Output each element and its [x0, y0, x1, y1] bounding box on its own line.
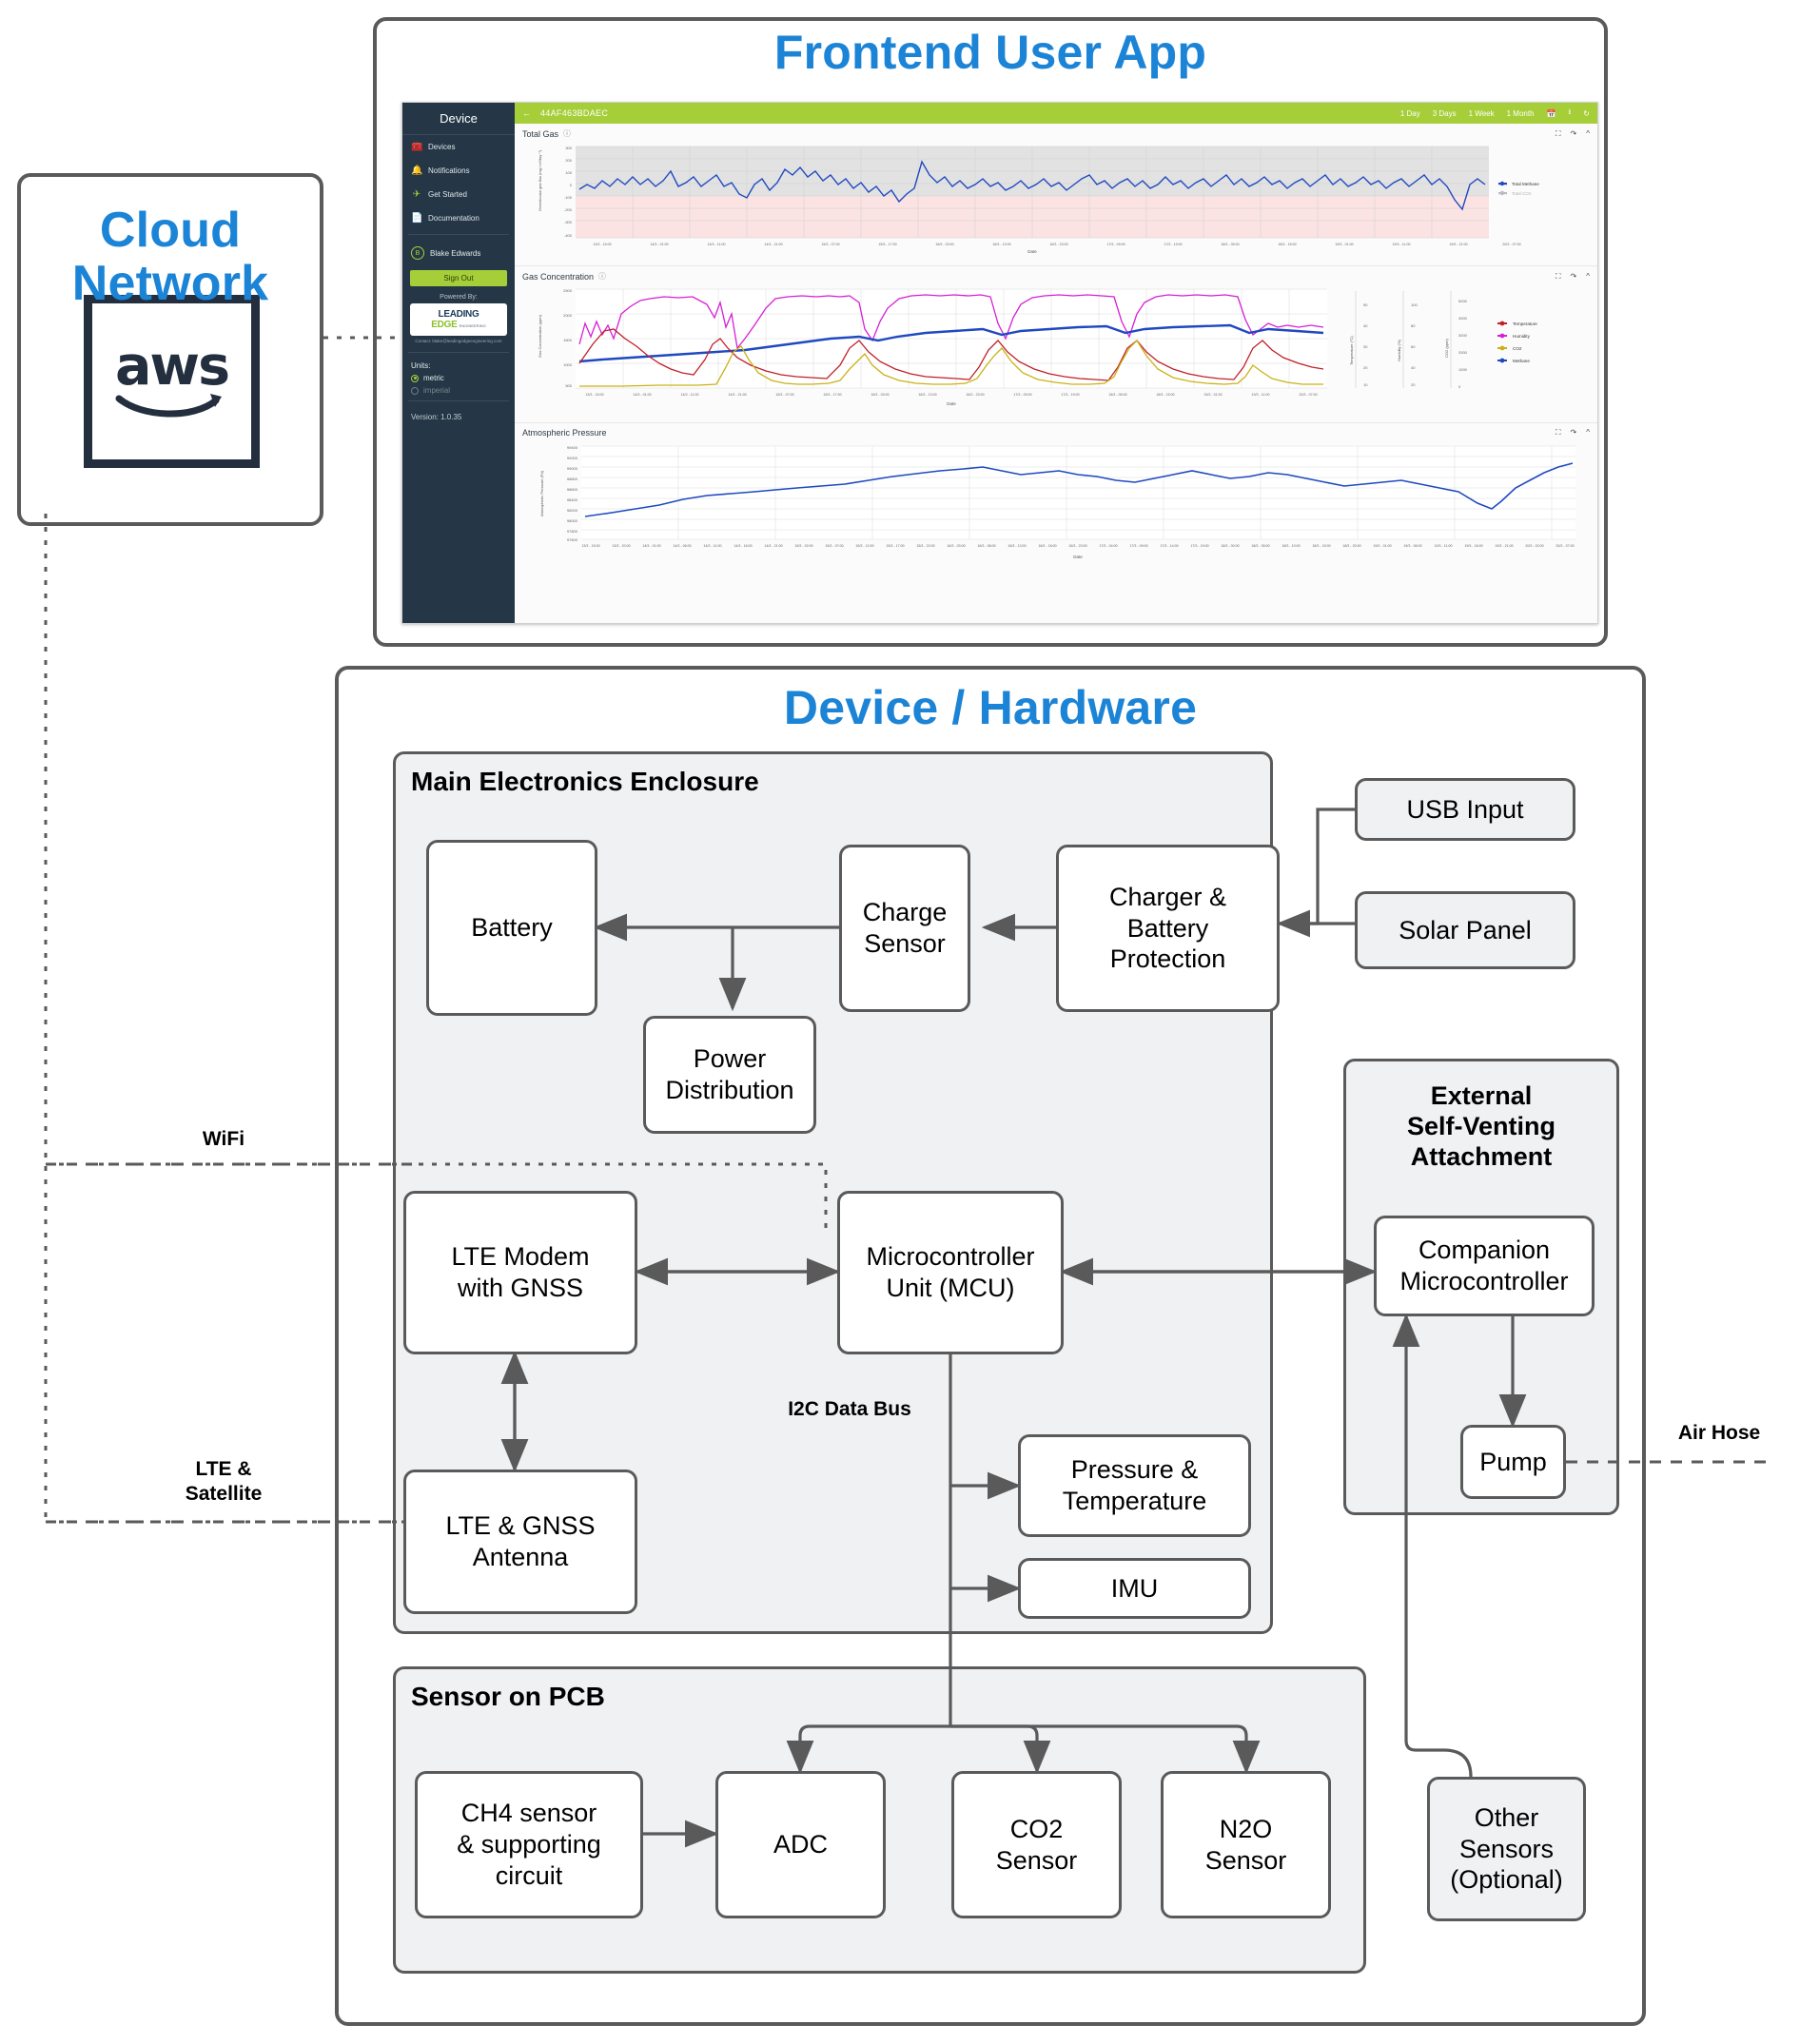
svg-text:20: 20 — [1411, 382, 1416, 387]
collapse-icon[interactable]: ^ — [1586, 129, 1590, 139]
adc-node[interactable]: ADC — [715, 1771, 886, 1918]
battery-label: Battery — [471, 912, 553, 944]
svg-text:15/3 - 17:00: 15/3 - 17:00 — [823, 393, 841, 397]
svg-text:Date: Date — [1073, 555, 1083, 559]
charge-sensor-label-2: Sensor — [863, 928, 948, 960]
power-distribution-label-2: Distribution — [665, 1075, 793, 1106]
charger-battery-protection-node[interactable]: Charger & Battery Protection — [1056, 845, 1280, 1012]
pump-label: Pump — [1479, 1447, 1547, 1478]
svg-text:97800: 97800 — [567, 529, 578, 534]
svg-text:Temperature (°C): Temperature (°C) — [1349, 336, 1354, 365]
co2-label-1: CO2 — [996, 1814, 1078, 1845]
svg-text:Total CO2: Total CO2 — [1512, 191, 1532, 196]
svg-text:19/3 - 11:00: 19/3 - 11:00 — [1393, 243, 1411, 246]
radio-icon — [411, 375, 419, 382]
companion-mcu-label-2: Microcontroller — [1399, 1266, 1568, 1297]
sidebar-item-label: Devices — [428, 143, 455, 151]
leading-edge-logo: LEADING EDGE ENGINEERING — [410, 303, 507, 336]
logo-line-1: LEADING — [439, 309, 479, 320]
n2o-label-1: N2O — [1205, 1814, 1287, 1845]
svg-text:17/3 - 04:00: 17/3 - 04:00 — [1099, 544, 1117, 548]
co2-label-2: Sensor — [996, 1845, 1078, 1877]
aws-logo: aws — [84, 295, 260, 468]
sidebar-divider-3 — [408, 400, 509, 401]
sidebar-item-devices[interactable]: 🧰 Devices — [402, 135, 515, 159]
mcu-label-1: Microcontroller — [866, 1241, 1034, 1273]
collapse-icon[interactable]: ^ — [1586, 272, 1590, 282]
solar-panel-node[interactable]: Solar Panel — [1355, 891, 1575, 969]
svg-text:20/3 - 07:00: 20/3 - 07:00 — [1299, 393, 1317, 397]
svg-text:14/3 - 11:00: 14/3 - 11:00 — [681, 393, 699, 397]
svg-text:99400: 99400 — [567, 445, 578, 450]
svg-text:19/3 - 01:00: 19/3 - 01:00 — [1335, 243, 1353, 246]
lte-gnss-antenna-node[interactable]: LTE & GNSS Antenna — [403, 1470, 637, 1614]
svg-text:15/3 - 07:00: 15/3 - 07:00 — [775, 393, 793, 397]
mcu-label-2: Unit (MCU) — [866, 1273, 1034, 1304]
svg-text:17/3 - 19:00: 17/3 - 19:00 — [1164, 243, 1182, 246]
cloud-network-title-line1: Cloud — [17, 202, 323, 259]
charge-sensor-node[interactable]: Charge Sensor — [839, 845, 970, 1012]
svg-text:Humidity: Humidity — [1513, 334, 1531, 339]
fullscreen-icon[interactable]: ⛶ — [1555, 129, 1561, 139]
svg-text:18/3 - 10:00: 18/3 - 10:00 — [1282, 544, 1300, 548]
unit-imperial-label: imperial — [423, 386, 450, 395]
logo-line-2: EDGE — [431, 320, 457, 330]
svg-text:18/3 - 15:00: 18/3 - 15:00 — [1278, 243, 1296, 246]
usb-input-label: USB Input — [1406, 794, 1523, 826]
svg-text:15/3 - 12:00: 15/3 - 12:00 — [855, 544, 873, 548]
svg-text:16/3 - 23:00: 16/3 - 23:00 — [966, 393, 984, 397]
companion-microcontroller-node[interactable]: Companion Microcontroller — [1374, 1216, 1595, 1316]
svg-text:17/3 - 14:00: 17/3 - 14:00 — [1160, 544, 1178, 548]
svg-text:1500: 1500 — [563, 338, 573, 342]
svg-text:18/3 - 00:00: 18/3 - 00:00 — [1221, 544, 1239, 548]
svg-text:17/3 - 19:00: 17/3 - 19:00 — [1061, 393, 1079, 397]
sidebar-item-documentation[interactable]: 📄 Documentation — [402, 206, 515, 230]
svg-text:99000: 99000 — [567, 466, 578, 471]
chart-gas-concentration: Gas Concentration ⓘ ⛶ ↷ ^ 2500 2000 — [515, 266, 1597, 423]
svg-text:18/3 - 05:00: 18/3 - 05:00 — [1108, 393, 1126, 397]
range-button[interactable]: 3 Days — [1433, 109, 1457, 118]
chart-ylabel: Greenhouse gas flux (mg / m²day⁻¹) — [538, 149, 542, 211]
chart-legend: Total Methane Total CO2 — [1498, 182, 1539, 196]
imu-node[interactable]: IMU — [1018, 1558, 1251, 1619]
svg-text:CO2: CO2 — [1513, 346, 1522, 351]
svg-text:-400: -400 — [564, 233, 573, 238]
svg-text:20/3 - 02:00: 20/3 - 02:00 — [1525, 544, 1543, 548]
svg-text:15/3 - 07:00: 15/3 - 07:00 — [825, 544, 843, 548]
rocket-icon: ✈ — [411, 189, 422, 200]
svg-text:17/3 - 09:00: 17/3 - 09:00 — [1106, 243, 1125, 246]
svg-text:16/3 - 08:00: 16/3 - 08:00 — [977, 544, 995, 548]
svg-text:14/3 - 01:00: 14/3 - 01:00 — [642, 544, 660, 548]
svg-text:Total Methane: Total Methane — [1512, 182, 1539, 186]
chart-legend: Temperature Humidity CO2 Methane — [1497, 321, 1537, 363]
svg-text:98200: 98200 — [567, 508, 578, 513]
range-button[interactable]: 1 Day — [1400, 109, 1420, 118]
sidebar-user[interactable]: B Blake Edwards — [402, 239, 515, 267]
cloud-network-title-line2: Network — [17, 255, 323, 312]
power-distribution-label-1: Power — [665, 1043, 793, 1075]
ch4-sensor-node[interactable]: CH4 sensor & supporting circuit — [415, 1771, 643, 1918]
svg-text:18/3 - 20:00: 18/3 - 20:00 — [1342, 544, 1360, 548]
svg-text:15/3 - 02:00: 15/3 - 02:00 — [794, 544, 812, 548]
battery-node[interactable]: Battery — [426, 840, 597, 1016]
reset-zoom-icon[interactable]: ↷ — [1571, 428, 1577, 438]
app-topbar: ← 44AF463BDAEC Total Gas 1 Day 3 Days 1 … — [515, 103, 1597, 124]
ch4-label-2: & supporting — [457, 1829, 601, 1860]
svg-text:50: 50 — [1363, 302, 1368, 307]
svg-text:40: 40 — [1363, 323, 1368, 328]
unit-option-metric[interactable]: metric — [402, 372, 515, 384]
svg-text:Methane: Methane — [1513, 359, 1530, 363]
radio-icon — [411, 387, 419, 395]
svg-text:2500: 2500 — [563, 288, 573, 293]
external-self-venting-attachment-title: External Self-Venting Attachment — [1343, 1081, 1619, 1173]
frontend-user-app-title: Frontend User App — [373, 25, 1608, 80]
svg-text:15/3 - 17:00: 15/3 - 17:00 — [878, 243, 896, 246]
svg-text:100: 100 — [1411, 302, 1418, 307]
svg-text:13/3 - 15:00: 13/3 - 15:00 — [585, 393, 603, 397]
ext-title-line1: External — [1343, 1081, 1619, 1112]
svg-text:98400: 98400 — [567, 497, 578, 502]
ext-title-line2: Self-Venting — [1343, 1112, 1619, 1142]
svg-text:14/3 - 01:00: 14/3 - 01:00 — [633, 393, 651, 397]
other-sensors-node[interactable]: Other Sensors (Optional) — [1427, 1777, 1586, 1921]
svg-text:Atmospheric Pressure (Pa): Atmospheric Pressure (Pa) — [539, 470, 544, 516]
svg-text:60: 60 — [1411, 344, 1416, 349]
co2-sensor-node[interactable]: CO2 Sensor — [951, 1771, 1122, 1918]
usb-input-node[interactable]: USB Input — [1355, 778, 1575, 841]
svg-text:19/3 - 06:00: 19/3 - 06:00 — [1403, 544, 1421, 548]
svg-text:-300: -300 — [564, 220, 573, 224]
chart-title: Atmospheric Pressure — [522, 428, 607, 438]
svg-text:17/3 - 09:00: 17/3 - 09:00 — [1013, 393, 1031, 397]
svg-text:14/3 - 01:00: 14/3 - 01:00 — [650, 243, 668, 246]
other-sensors-label-3: (Optional) — [1450, 1864, 1563, 1896]
lte-satellite-line1: LTE & — [143, 1457, 304, 1482]
svg-text:Humidity (%): Humidity (%) — [1397, 339, 1401, 361]
mcu-node[interactable]: Microcontroller Unit (MCU) — [837, 1191, 1064, 1354]
charger-protection-label-3: Protection — [1109, 944, 1226, 975]
avatar: B — [411, 246, 424, 260]
svg-text:20/3 - 07:00: 20/3 - 07:00 — [1502, 243, 1520, 246]
svg-text:14/3 - 21:00: 14/3 - 21:00 — [728, 393, 746, 397]
lte-antenna-label-2: Antenna — [445, 1542, 595, 1573]
n2o-label-2: Sensor — [1205, 1845, 1287, 1877]
info-icon[interactable]: ⓘ — [598, 271, 606, 282]
device-id: 44AF463BDAEC — [540, 108, 608, 118]
svg-text:19/3 - 11:00: 19/3 - 11:00 — [1252, 393, 1270, 397]
svg-text:19/3 - 21:00: 19/3 - 21:00 — [1449, 243, 1467, 246]
chart-atmospheric-pressure-plot: 994009920099000 988009860098400 98200980… — [526, 442, 1592, 566]
svg-text:Temperature: Temperature — [1513, 321, 1537, 326]
chart-gas-concentration-plot: 2500 2000 1500 1000 500 — [526, 285, 1592, 411]
svg-text:15/3 - 07:00: 15/3 - 07:00 — [821, 243, 839, 246]
svg-text:3000: 3000 — [1458, 333, 1468, 338]
svg-text:300: 300 — [565, 146, 572, 150]
aws-logo-text: aws — [115, 343, 228, 389]
pressure-temp-label-1: Pressure & — [1063, 1454, 1207, 1486]
svg-text:500: 500 — [565, 383, 572, 388]
svg-text:18/3 - 05:00: 18/3 - 05:00 — [1221, 243, 1239, 246]
svg-text:97600: 97600 — [567, 537, 578, 542]
svg-text:200: 200 — [565, 158, 572, 163]
device-hardware-title: Device / Hardware — [335, 680, 1646, 735]
document-icon: 📄 — [411, 213, 422, 224]
air-hose-label: Air Hose — [1657, 1422, 1781, 1445]
svg-text:16/3 - 03:00: 16/3 - 03:00 — [935, 243, 953, 246]
svg-text:19/3 - 01:00: 19/3 - 01:00 — [1373, 544, 1391, 548]
solar-panel-label: Solar Panel — [1399, 915, 1532, 946]
fullscreen-icon[interactable]: ⛶ — [1555, 428, 1561, 438]
app-screenshot: Device 🧰 Devices 🔔 Notifications ✈ Get S… — [401, 102, 1598, 624]
svg-text:16/3 - 13:00: 16/3 - 13:00 — [992, 243, 1010, 246]
sensor-on-pcb-title: Sensor on PCB — [411, 1681, 605, 1712]
svg-text:2000: 2000 — [1458, 350, 1468, 355]
charger-protection-label-2: Battery — [1109, 913, 1226, 944]
svg-text:19/3 - 11:00: 19/3 - 11:00 — [1435, 544, 1453, 548]
app-main: ← 44AF463BDAEC Total Gas 1 Day 3 Days 1 … — [515, 103, 1597, 623]
svg-text:1000: 1000 — [1458, 367, 1468, 372]
svg-text:99200: 99200 — [567, 456, 578, 460]
charge-sensor-label-1: Charge — [863, 897, 948, 928]
sidebar-item-label: Get Started — [428, 190, 467, 199]
adc-label: ADC — [773, 1829, 828, 1860]
download-icon[interactable]: ⭳ — [1568, 107, 1571, 120]
svg-text:98800: 98800 — [567, 477, 578, 481]
ch4-label-3: circuit — [457, 1860, 601, 1892]
user-name: Blake Edwards — [430, 249, 480, 258]
svg-text:16/3 - 23:00: 16/3 - 23:00 — [1068, 544, 1086, 548]
units-label: Units: — [402, 357, 515, 372]
app-sidebar: Device 🧰 Devices 🔔 Notifications ✈ Get S… — [402, 103, 515, 624]
sidebar-item-notifications[interactable]: 🔔 Notifications — [402, 159, 515, 183]
bell-icon: 🔔 — [411, 165, 422, 176]
svg-text:20: 20 — [1363, 365, 1368, 370]
sidebar-item-label: Notifications — [428, 166, 470, 175]
lte-modem-label-2: with GNSS — [451, 1273, 589, 1304]
svg-text:14/3 - 21:00: 14/3 - 21:00 — [764, 243, 782, 246]
sidebar-header: Device — [402, 103, 515, 135]
svg-text:16/3 - 13:00: 16/3 - 13:00 — [1008, 544, 1026, 548]
svg-text:19/3 - 21:00: 19/3 - 21:00 — [1495, 544, 1513, 548]
svg-text:13/3 - 15:00: 13/3 - 15:00 — [581, 544, 599, 548]
svg-text:5000: 5000 — [1458, 299, 1468, 303]
svg-text:-100: -100 — [564, 195, 573, 200]
svg-text:80: 80 — [1411, 323, 1416, 328]
chart-title: Gas Concentration — [522, 272, 594, 282]
aws-smile-icon — [115, 391, 229, 419]
svg-text:0: 0 — [570, 183, 573, 187]
ch4-label-1: CH4 sensor — [457, 1798, 601, 1829]
charger-protection-label-1: Charger & — [1109, 882, 1226, 913]
other-sensors-label-1: Other — [1450, 1802, 1563, 1834]
companion-mcu-label-1: Companion — [1399, 1235, 1568, 1266]
sidebar-divider-2 — [408, 352, 509, 353]
n2o-sensor-node[interactable]: N2O Sensor — [1161, 1771, 1331, 1918]
chart-xlabel: Date — [1027, 249, 1037, 254]
power-distribution-node[interactable]: Power Distribution — [643, 1016, 816, 1134]
svg-text:10: 10 — [1363, 382, 1368, 387]
svg-text:14/3 - 06:00: 14/3 - 06:00 — [673, 544, 691, 548]
diagram-root: Cloud Network aws Frontend User App Devi… — [0, 0, 1800, 2044]
chart-total-gas-plot: 300 200 100 0 -100 -200 -300 -400 13/3 -… — [526, 143, 1592, 255]
svg-text:20/3 - 07:00: 20/3 - 07:00 — [1555, 544, 1574, 548]
svg-text:98600: 98600 — [567, 487, 578, 492]
svg-text:15/3 - 22:00: 15/3 - 22:00 — [916, 544, 934, 548]
chart-atmospheric-pressure: Atmospheric Pressure ⛶ ↷ ^ 9940099200990… — [515, 423, 1597, 577]
lte-satellite-line2: Satellite — [143, 1482, 304, 1507]
svg-text:14/3 - 11:00: 14/3 - 11:00 — [704, 544, 722, 548]
lte-modem-label-1: LTE Modem — [451, 1241, 589, 1273]
powered-by-label: Powered By: — [402, 289, 515, 303]
svg-text:2000: 2000 — [563, 313, 573, 318]
svg-text:CO2 (ppm): CO2 (ppm) — [1444, 339, 1449, 358]
svg-text:14/3 - 11:00: 14/3 - 11:00 — [708, 243, 726, 246]
svg-text:100: 100 — [565, 170, 572, 175]
range-button[interactable]: 1 Month — [1507, 109, 1535, 118]
svg-text:0: 0 — [1458, 384, 1461, 389]
chart-total-gas: Total Gas ⓘ ⛶ ↷ ^ 300 20 — [515, 124, 1597, 266]
main-electronics-enclosure-title: Main Electronics Enclosure — [411, 766, 759, 797]
svg-text:-200: -200 — [564, 207, 573, 212]
refresh-icon[interactable]: ↻ — [1583, 109, 1590, 118]
svg-text:13/3 - 20:00: 13/3 - 20:00 — [612, 544, 630, 548]
svg-text:13/3 - 15:00: 13/3 - 15:00 — [593, 243, 611, 246]
version-label: Version: 1.0.35 — [402, 405, 515, 421]
sidebar-item-label: Documentation — [428, 214, 479, 223]
svg-text:16/3 - 23:00: 16/3 - 23:00 — [1049, 243, 1067, 246]
svg-text:18/3 - 15:00: 18/3 - 15:00 — [1312, 544, 1330, 548]
svg-text:40: 40 — [1411, 365, 1416, 370]
svg-text:16/3 - 13:00: 16/3 - 13:00 — [918, 393, 936, 397]
svg-text:98000: 98000 — [567, 518, 578, 523]
reset-zoom-icon[interactable]: ↷ — [1571, 272, 1577, 282]
pressure-temperature-node[interactable]: Pressure & Temperature — [1018, 1434, 1251, 1537]
svg-text:Gas Concentration (ppm): Gas Concentration (ppm) — [538, 314, 542, 358]
svg-text:14/3 - 21:00: 14/3 - 21:00 — [764, 544, 782, 548]
pressure-temp-label-2: Temperature — [1063, 1486, 1207, 1517]
reset-zoom-icon[interactable]: ↷ — [1571, 129, 1577, 139]
lte-antenna-label-1: LTE & GNSS — [445, 1510, 595, 1542]
lte-modem-node[interactable]: LTE Modem with GNSS — [403, 1191, 637, 1354]
imu-label: IMU — [1111, 1573, 1159, 1605]
svg-text:1000: 1000 — [563, 362, 573, 367]
svg-text:16/3 - 03:00: 16/3 - 03:00 — [947, 544, 965, 548]
svg-text:16/3 - 18:00: 16/3 - 18:00 — [1038, 544, 1056, 548]
svg-text:Date: Date — [947, 401, 956, 406]
fullscreen-icon[interactable]: ⛶ — [1555, 272, 1561, 282]
svg-text:17/3 - 09:00: 17/3 - 09:00 — [1129, 544, 1147, 548]
logo-sub-1: ENGINEERING — [460, 323, 486, 328]
svg-text:18/3 - 15:00: 18/3 - 15:00 — [1156, 393, 1174, 397]
calendar-icon[interactable]: 📅 — [1547, 109, 1556, 118]
sign-out-button[interactable]: Sign Out — [410, 270, 507, 286]
unit-metric-label: metric — [423, 374, 444, 382]
svg-text:19/3 - 16:00: 19/3 - 16:00 — [1464, 544, 1482, 548]
unit-option-imperial[interactable]: imperial — [402, 384, 515, 397]
svg-text:16/3 - 03:00: 16/3 - 03:00 — [871, 393, 889, 397]
lte-satellite-label: LTE & Satellite — [143, 1457, 304, 1508]
svg-text:15/3 - 17:00: 15/3 - 17:00 — [886, 544, 904, 548]
i2c-data-bus-label: I2C Data Bus — [759, 1398, 940, 1421]
contact-text: Contact: blake@leadingedgeengineering.co… — [402, 336, 515, 348]
other-sensors-label-2: Sensors — [1450, 1834, 1563, 1865]
pump-node[interactable]: Pump — [1460, 1425, 1566, 1499]
svg-text:4000: 4000 — [1458, 316, 1468, 321]
sidebar-divider — [408, 234, 509, 235]
range-button[interactable]: 1 Week — [1469, 109, 1495, 118]
back-arrow-icon[interactable]: ← — [522, 108, 531, 118]
svg-text:30: 30 — [1363, 344, 1368, 349]
collapse-icon[interactable]: ^ — [1586, 428, 1590, 438]
sidebar-item-get-started[interactable]: ✈ Get Started — [402, 183, 515, 206]
devices-icon: 🧰 — [411, 142, 422, 152]
info-icon[interactable]: ⓘ — [563, 128, 571, 139]
svg-text:19/3 - 01:00: 19/3 - 01:00 — [1203, 393, 1222, 397]
svg-text:17/3 - 19:00: 17/3 - 19:00 — [1190, 544, 1208, 548]
chart-title: Total Gas — [522, 129, 558, 139]
svg-text:18/3 - 05:00: 18/3 - 05:00 — [1251, 544, 1269, 548]
svg-text:14/3 - 16:00: 14/3 - 16:00 — [734, 544, 752, 548]
ext-title-line3: Attachment — [1343, 1142, 1619, 1173]
wifi-label: WiFi — [162, 1128, 285, 1151]
